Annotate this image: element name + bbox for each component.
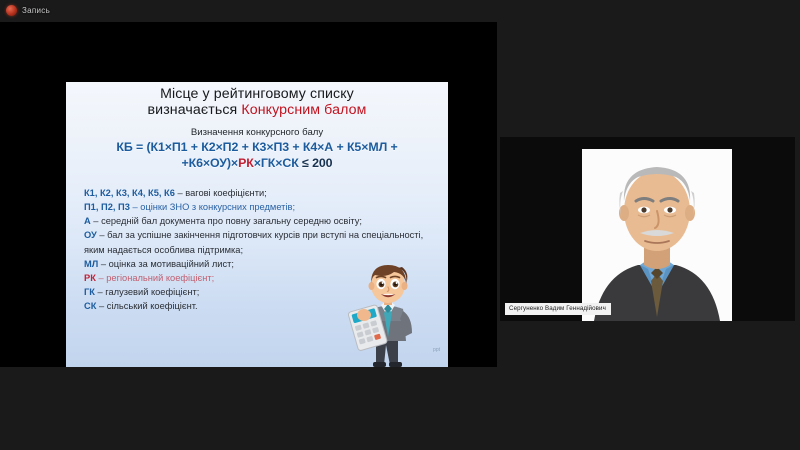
video-conference-window: Запись Місце у рейтинговому списку визна… xyxy=(0,0,800,450)
boy-with-calculator-icon xyxy=(342,259,434,367)
participant-video-tile[interactable]: Сергуненко Вадим Геннадійович xyxy=(500,137,795,321)
definition-text: вагові коефіцієнти; xyxy=(185,188,266,198)
definition-dash: – xyxy=(96,301,106,311)
slide-title-line2-prefix: визначається xyxy=(148,102,242,118)
definition-dash: – xyxy=(95,287,105,297)
presentation-slide: Місце у рейтинговому списку визначається… xyxy=(66,82,448,367)
slide-subtitle: Визначення конкурсного балу xyxy=(66,127,448,138)
formula-line-2-part2: ×ГК×СК xyxy=(254,156,299,170)
definition-dash: – xyxy=(98,259,108,269)
definition-dash: – xyxy=(175,188,185,198)
slide-title-highlight: Конкурсним балом xyxy=(241,102,366,118)
definition-dash: – xyxy=(130,202,140,212)
definition-text: оцінка за мотиваційний лист; xyxy=(109,259,234,269)
slide-watermark: ppt xyxy=(433,347,440,353)
list-item: А – середній бал документа про повну заг… xyxy=(84,214,440,228)
definition-text: сільський коефіцієнт. xyxy=(107,301,198,311)
definition-symbol: А xyxy=(84,216,91,226)
slide-title: Місце у рейтинговому списку визначається… xyxy=(66,86,448,119)
slide-title-line1: Місце у рейтинговому списку xyxy=(160,86,354,102)
definition-symbol: П1, П2, П3 xyxy=(84,202,130,212)
list-item: ОУ – бал за успішне закінчення підготовч… xyxy=(84,228,440,256)
definition-symbol: К1, К2, К3, К4, К5, К6 xyxy=(84,188,175,198)
definition-symbol: РК xyxy=(84,273,96,283)
shared-content-stage[interactable]: Місце у рейтинговому списку визначається… xyxy=(0,22,497,367)
competition-score-formula: КБ = (К1×П1 + К2×П2 + К3×П3 + К4×А + К5×… xyxy=(66,140,448,172)
recording-indicator[interactable]: Запись xyxy=(6,5,50,16)
formula-line-2-part1: +К6×ОУ)× xyxy=(182,156,239,170)
recording-label: Запись xyxy=(22,6,50,15)
definition-symbol: ГК xyxy=(84,287,95,297)
definition-text: бал за успішне закінчення підготовчих ку… xyxy=(84,230,423,254)
definition-dash: – xyxy=(96,273,106,283)
definition-text: середній бал документа про повну загальн… xyxy=(101,216,362,226)
definition-text: оцінки ЗНО з конкурсних предметів; xyxy=(140,202,295,212)
definition-dash: – xyxy=(91,216,101,226)
formula-regional-coefficient: РК xyxy=(238,156,254,170)
list-item: П1, П2, П3 – оцінки ЗНО з конкурсних пре… xyxy=(84,200,440,214)
definition-symbol: МЛ xyxy=(84,259,98,269)
definition-text: регіональний коефіцієнт; xyxy=(106,273,214,283)
definition-symbol: ОУ xyxy=(84,230,97,240)
record-dot-icon xyxy=(6,5,17,16)
definition-symbol: СК xyxy=(84,301,96,311)
formula-line-1: КБ = (К1×П1 + К2×П2 + К3×П3 + К4×А + К5×… xyxy=(116,140,397,154)
definition-text: галузевий коефіцієнт; xyxy=(105,287,199,297)
speaker-portrait-photo xyxy=(582,149,732,321)
definition-dash: – xyxy=(97,230,107,240)
list-item: К1, К2, К3, К4, К5, К6 – вагові коефіціє… xyxy=(84,186,440,200)
participant-name-label: Сергуненко Вадим Геннадійович xyxy=(505,303,611,315)
formula-limit: ≤ 200 xyxy=(299,156,333,170)
